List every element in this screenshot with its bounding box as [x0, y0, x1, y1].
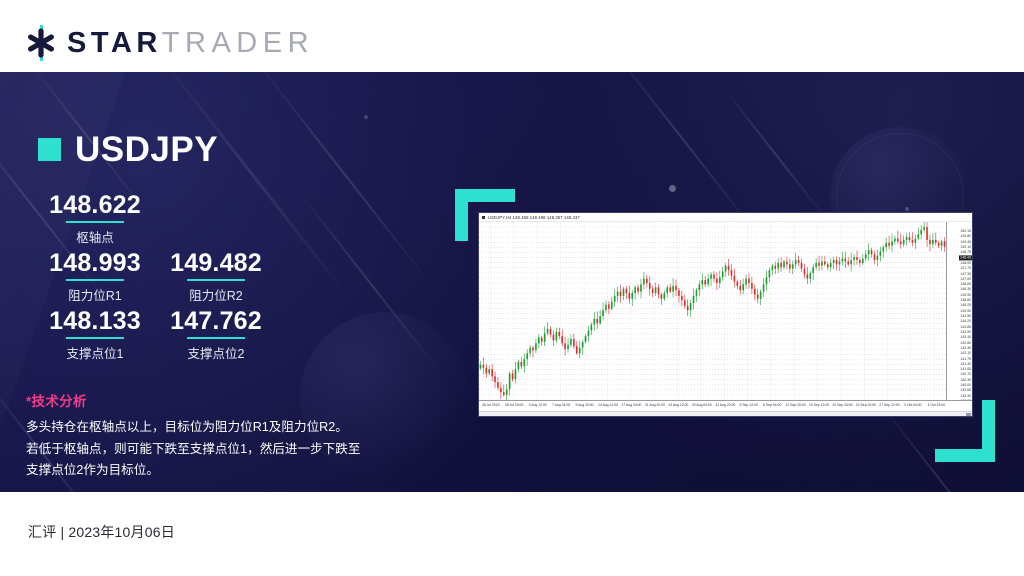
- level-label: 枢轴点: [35, 227, 155, 246]
- price-tick-label: 145.95: [960, 293, 971, 297]
- star-asterisk-icon: [24, 26, 58, 60]
- analysis-line-1: 多头持仓在枢轴点以上，目标位为阻力位R1及阻力位R2。: [26, 417, 400, 439]
- level-underline: [66, 337, 124, 339]
- price-tick-label: 142.10: [960, 351, 971, 355]
- price-tick-label: 139.65: [960, 388, 971, 392]
- brand-logo: STAR TRADER: [24, 26, 314, 60]
- brand-name-bold: STAR: [67, 27, 162, 60]
- price-tick-label: 141.05: [960, 367, 971, 371]
- current-price-label: 148.43: [959, 255, 972, 260]
- analysis-line-2: 若低于枢轴点，则可能下跌至支撑点位1，然后进一步下跌至: [26, 439, 400, 461]
- price-tick-label: 149.10: [960, 245, 971, 249]
- price-tick-label: 139.30: [960, 394, 971, 398]
- price-tick-label: 141.40: [960, 362, 971, 366]
- page-title: USDJPY: [75, 132, 218, 167]
- chart-scrollbar-thumb[interactable]: [966, 413, 971, 416]
- price-tick-label: 144.90: [960, 309, 971, 313]
- price-tick-label: 143.85: [960, 325, 971, 329]
- level-label: 支撑点位1: [29, 343, 161, 362]
- price-tick-label: 140.70: [960, 372, 971, 376]
- price-tick-label: 143.15: [960, 335, 971, 339]
- price-tick-label: 147.00: [960, 277, 971, 281]
- chart-body: 150.15149.80149.45149.10148.75148.43148.…: [479, 222, 972, 400]
- price-tick-label: 147.70: [960, 266, 971, 270]
- time-tick-label: 22 Sep 20:00: [856, 403, 876, 407]
- price-tick-label: 140.35: [960, 378, 971, 382]
- time-tick-label: 29 Aug 04:00: [692, 403, 712, 407]
- price-tick-label: 142.80: [960, 341, 971, 345]
- price-tick-label: 144.55: [960, 314, 971, 318]
- page-header: STAR TRADER: [0, 0, 1024, 72]
- level-label: 阻力位R1: [29, 285, 161, 304]
- time-tick-label: 3 Oct 04:00: [904, 403, 922, 407]
- time-tick-label: 4 Oct 23:00: [927, 403, 945, 407]
- chart-region: USDJPY,H4 148.456 148.498 148.357 148.43…: [455, 117, 1000, 462]
- time-tick-label: 21 Aug 20:00: [645, 403, 665, 407]
- analysis-body: 多头持仓在枢轴点以上，目标位为阻力位R1及阻力位R2。 若低于枢轴点，则可能下跌…: [26, 417, 400, 482]
- price-tick-label: 149.45: [960, 240, 971, 244]
- analysis-title: *技术分析: [26, 390, 400, 410]
- page-footer: 汇评 | 2023年10月06日: [0, 492, 1024, 576]
- time-tick-label: 17 Aug 04:00: [621, 403, 641, 407]
- level-resistance-1: 148.993 阻力位R1: [29, 250, 161, 304]
- time-tick-label: 14 Aug 12:00: [598, 403, 618, 407]
- chart-time-axis: 26 Jul 202328 Jul 20:003 Aug 12:007 Aug …: [479, 400, 972, 411]
- level-value: 147.762: [150, 308, 282, 335]
- level-underline: [66, 279, 124, 281]
- chart-symbol-icon: [482, 216, 485, 219]
- price-tick-label: 149.80: [960, 234, 971, 238]
- level-label: 阻力位R2: [150, 285, 282, 304]
- footer-caption: 汇评 | 2023年10月06日: [28, 522, 175, 542]
- chart-scrollbar[interactable]: [479, 411, 972, 416]
- price-tick-label: 146.65: [960, 282, 971, 286]
- price-tick-label: 150.15: [960, 229, 971, 233]
- levels-panel: USDJPY 148.622 枢轴点 148.993 阻力位R1 149.482…: [0, 72, 440, 492]
- brand-wordmark: STAR TRADER: [67, 27, 314, 60]
- level-value: 148.622: [35, 192, 155, 219]
- level-value: 148.993: [29, 250, 161, 277]
- level-value: 149.482: [150, 250, 282, 277]
- price-tick-label: 147.35: [960, 272, 971, 276]
- time-tick-label: 9 Aug 20:00: [575, 403, 593, 407]
- chart-price-axis: 150.15149.80149.45149.10148.75148.43148.…: [946, 222, 972, 400]
- time-tick-label: 24 Aug 12:00: [668, 403, 688, 407]
- pair-heading: USDJPY: [38, 132, 218, 167]
- time-tick-label: 5 Sep 12:00: [740, 403, 758, 407]
- level-support-1: 148.133 支撑点位1: [29, 308, 161, 362]
- time-tick-label: 3 Aug 12:00: [529, 403, 547, 407]
- technical-analysis-block: *技术分析 多头持仓在枢轴点以上，目标位为阻力位R1及阻力位R2。 若低于枢轴点…: [26, 390, 400, 482]
- chart-titlebar: USDJPY,H4 148.456 148.498 148.357 148.43…: [479, 213, 972, 222]
- price-tick-label: 145.60: [960, 298, 971, 302]
- brand-name-light: TRADER: [162, 27, 314, 60]
- main-stage: USDJPY 148.622 枢轴点 148.993 阻力位R1 149.482…: [0, 72, 1024, 492]
- time-tick-label: 31 Aug 20:00: [715, 403, 735, 407]
- level-resistance-2: 149.482 阻力位R2: [150, 250, 282, 304]
- price-tick-label: 148.05: [960, 261, 971, 265]
- time-tick-label: 28 Jul 20:00: [505, 403, 523, 407]
- level-underline: [187, 279, 245, 281]
- candlestick-series: [479, 222, 946, 400]
- level-support-2: 147.762 支撑点位2: [150, 308, 282, 362]
- price-tick-label: 143.50: [960, 330, 971, 334]
- time-tick-label: 8 Sep 04:00: [763, 403, 781, 407]
- price-tick-label: 145.25: [960, 303, 971, 307]
- price-tick-label: 142.45: [960, 346, 971, 350]
- level-pivot: 148.622 枢轴点: [35, 192, 155, 246]
- star-asterisk-glyph: [26, 28, 56, 58]
- level-underline: [187, 337, 245, 339]
- chart-title: USDJPY,H4 148.456 148.498 148.357 148.43…: [488, 215, 580, 220]
- corner-bracket-bottom-right: [982, 400, 995, 462]
- chart-plot-area[interactable]: [479, 222, 946, 400]
- analysis-line-3: 支撑点位2作为目标位。: [26, 460, 400, 482]
- time-tick-label: 27 Sep 12:00: [879, 403, 899, 407]
- level-underline: [66, 221, 124, 223]
- time-tick-label: 15 Sep 12:00: [809, 403, 829, 407]
- price-tick-label: 148.75: [960, 250, 971, 254]
- level-label: 支撑点位2: [150, 343, 282, 362]
- price-tick-label: 146.30: [960, 287, 971, 291]
- pair-marker-square: [38, 138, 61, 161]
- price-tick-label: 144.20: [960, 319, 971, 323]
- chart-window[interactable]: USDJPY,H4 148.456 148.498 148.357 148.43…: [478, 212, 973, 417]
- time-tick-label: 26 Jul 2023: [482, 403, 500, 407]
- price-tick-label: 141.75: [960, 357, 971, 361]
- level-value: 148.133: [29, 308, 161, 335]
- time-tick-label: 12 Sep 20:00: [785, 403, 805, 407]
- time-tick-label: 20 Sep 04:00: [832, 403, 852, 407]
- time-tick-label: 7 Aug 04:00: [552, 403, 570, 407]
- corner-bracket-top-left: [455, 189, 468, 241]
- price-tick-label: 140.00: [960, 383, 971, 387]
